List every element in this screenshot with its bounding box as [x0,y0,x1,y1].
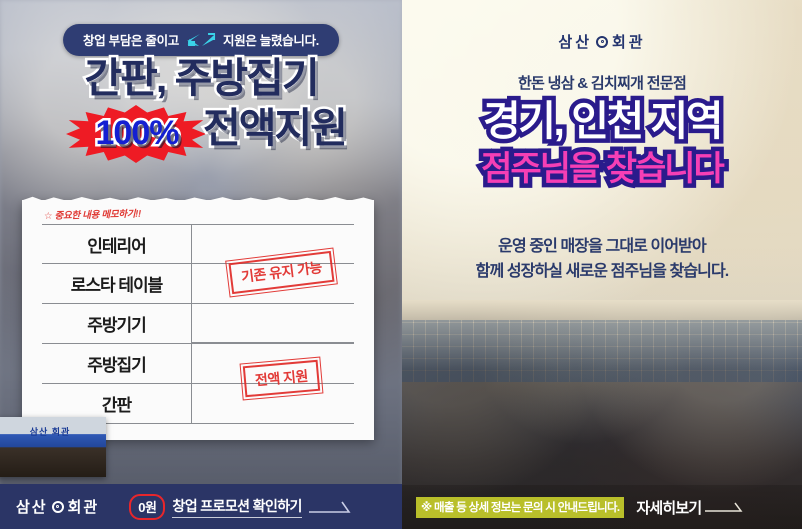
brand-logo-text-2: 회관 [68,496,100,517]
double-arrow-up-icon [186,32,216,48]
arrow-right-icon[interactable] [309,501,361,513]
brand-subtitle: 한돈 냉삼 & 김치찌개 전문점 [402,72,802,93]
tagline-pill: 창업 부담은 줄이고 지원은 늘렸습니다. [63,24,339,56]
arrow-right-icon[interactable] [705,502,749,512]
table-row: 주방기기 [42,304,354,344]
detail-link-label[interactable]: 자세히보기 [636,497,701,518]
promo-cta[interactable]: 0원 창업 프로모션 확인하기 [129,494,361,520]
right-promo-panel[interactable]: 삼산 회관 한돈 냉삼 & 김치찌개 전문점 경기, 인천 지역 점주님을 찾습… [402,0,802,529]
table-cell-label: 주방집기 [42,344,192,383]
table-cell-label: 로스타 테이블 [42,264,192,303]
stamp-full-support: 전액 지원 [243,360,320,397]
percent-badge: 100% [62,116,212,150]
tagline-text-after: 지원은 늘렸습니다. [223,30,319,49]
zero-won-badge: 0원 [129,494,165,520]
left-bottom-bar[interactable]: 삼산 회관 0원 창업 프로모션 확인하기 [0,484,402,529]
headline-line-2-wrap: 100% 전액지원 [0,102,402,162]
right-bottom-bar[interactable]: ※ 매출 등 상세 정보는 문의 시 안내드립니다. 자세히보기 [402,485,802,529]
tagline-text-before: 창업 부담은 줄이고 [83,30,179,49]
promo-cta-label[interactable]: 창업 프로모션 확인하기 [172,496,301,518]
table-cell-label: 인테리어 [42,225,192,263]
headline-line-1: 간판, 주방집기 [84,58,317,99]
left-promo-panel[interactable]: 창업 부담은 줄이고 지원은 늘렸습니다. 간판, 주방집기 100% 전액지원… [0,0,402,529]
brand-logo-text-1: 삼산 [16,496,48,517]
emblem-icon [52,501,64,513]
ad-banner-pair: 창업 부담은 줄이고 지원은 늘렸습니다. 간판, 주방집기 100% 전액지원… [0,0,802,529]
memo-card: ☆ 중요한 내용 메모하기!! 인테리어 로스타 테이블 주방기기 주방집기 [22,200,374,440]
storefront-sign-text: 삼산 회관 [0,425,106,438]
brand-logo-text-1: 삼산 [558,31,592,52]
brand-logo: 삼산 회관 [16,496,99,517]
brand-logo-text-2: 회관 [612,31,646,52]
emblem-icon [596,36,608,48]
recruit-headline-owner: 점주님을 찾습니다 [402,152,802,186]
recruit-headline-region: 경기, 인천 지역 [402,101,802,142]
headline-line-2: 전액지원 [203,108,346,149]
blue-tile-wall [402,320,802,382]
table-cell-value [192,304,354,343]
storefront-photo: 삼산 회관 [0,417,106,477]
left-headline-group: 간판, 주방집기 100% 전액지원 [0,58,402,162]
disclaimer-note: ※ 매출 등 상세 정보는 문의 시 안내드립니다. [416,497,624,518]
brand-logo: 삼산 회관 [402,31,802,52]
memo-note-text: ☆ 중요한 내용 메모하기!! [44,206,141,222]
table-cell-label: 주방기기 [42,304,192,343]
recruit-body-text: 운영 중인 매장을 그대로 이어받아 함께 성장하실 새로운 점주님을 찾습니다… [402,235,802,285]
